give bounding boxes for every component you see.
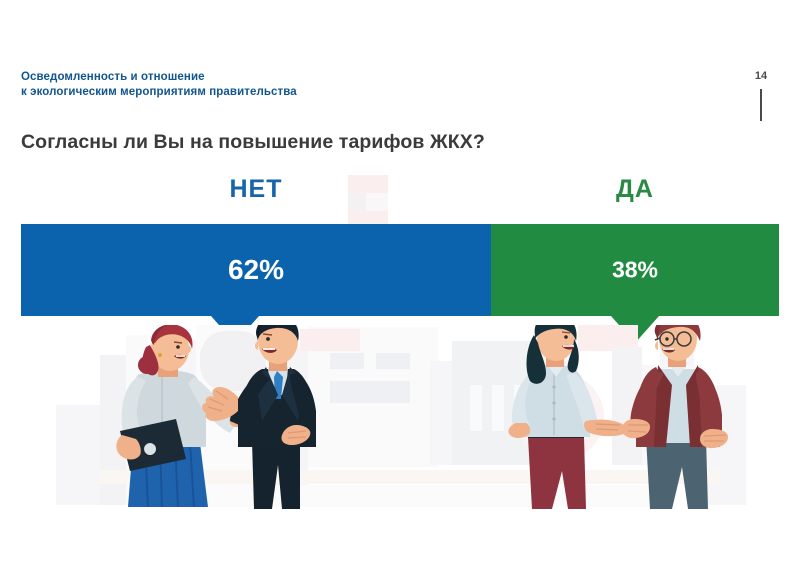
answer-label-no: НЕТ [229, 175, 282, 204]
page-number-rule [760, 89, 762, 121]
bar-value-no: 62% [228, 254, 284, 286]
people-illustration [0, 325, 800, 515]
slide-header: Осведомленность и отношение к экологичес… [21, 70, 541, 100]
bar-row: 62% 38% [21, 224, 779, 316]
bg-faint-building-top [348, 175, 388, 193]
page-title: Согласны ли Вы на повышение тарифов ЖКХ? [21, 131, 485, 154]
page-number: 14 [741, 70, 781, 83]
header-line-2: к экологическим мероприятиям правительст… [21, 85, 541, 100]
page-number-block: 14 [741, 70, 781, 121]
bar-segment-yes[interactable]: 38% [491, 224, 779, 316]
bar-segment-no[interactable]: 62% [21, 224, 491, 316]
answer-label-yes: ДА [616, 175, 654, 204]
header-line-1: Осведомленность и отношение [21, 70, 541, 85]
bar-value-yes: 38% [612, 257, 658, 284]
bg-faint-building-top-4 [348, 211, 388, 224]
